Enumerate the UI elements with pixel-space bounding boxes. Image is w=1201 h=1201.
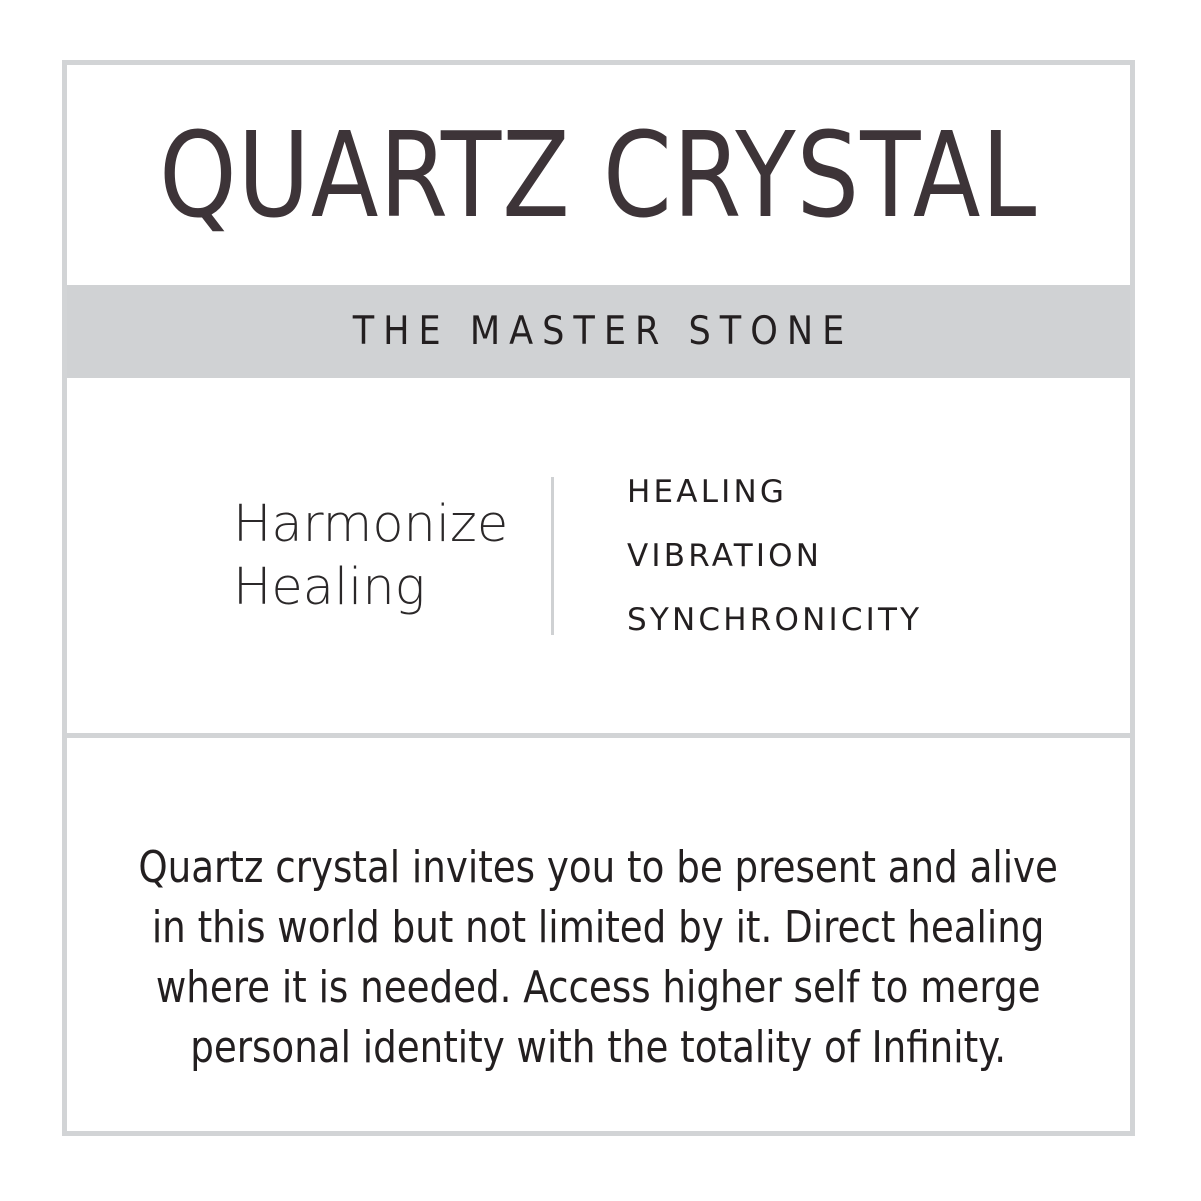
keywords-section: Harmonize Healing HEALING VIBRATION SYNC… [67,378,1130,733]
keyword-primary-1: Harmonize [233,493,533,556]
subtitle-text: THE MASTER STONE [344,309,854,354]
description-text: Quartz crystal invites you to be present… [109,838,1087,1078]
page-title: QUARTZ CRYSTAL [159,116,1037,234]
description-block: Quartz crystal invites you to be present… [67,738,1130,1131]
description-line-3: where it is needed. Access higher self t… [139,958,1059,1018]
description-line-4: personal identity with the totality of I… [139,1018,1059,1078]
info-card: QUARTZ CRYSTAL THE MASTER STONE Harmoniz… [62,60,1135,1136]
keywords-left-column: Harmonize Healing [233,493,533,619]
description-line-1: Quartz crystal invites you to be present… [139,838,1059,898]
keyword-attribute-3: SYNCHRONICITY [627,588,922,652]
keyword-primary-2: Healing [233,556,533,619]
description-line-2: in this world but not limited by it. Dir… [139,898,1059,958]
subtitle-band: THE MASTER STONE [67,285,1130,378]
vertical-divider [551,477,554,635]
keyword-attribute-1: HEALING [627,460,922,524]
title-block: QUARTZ CRYSTAL [67,65,1130,285]
keyword-attribute-2: VIBRATION [627,524,922,588]
keywords-right-column: HEALING VIBRATION SYNCHRONICITY [627,460,922,652]
